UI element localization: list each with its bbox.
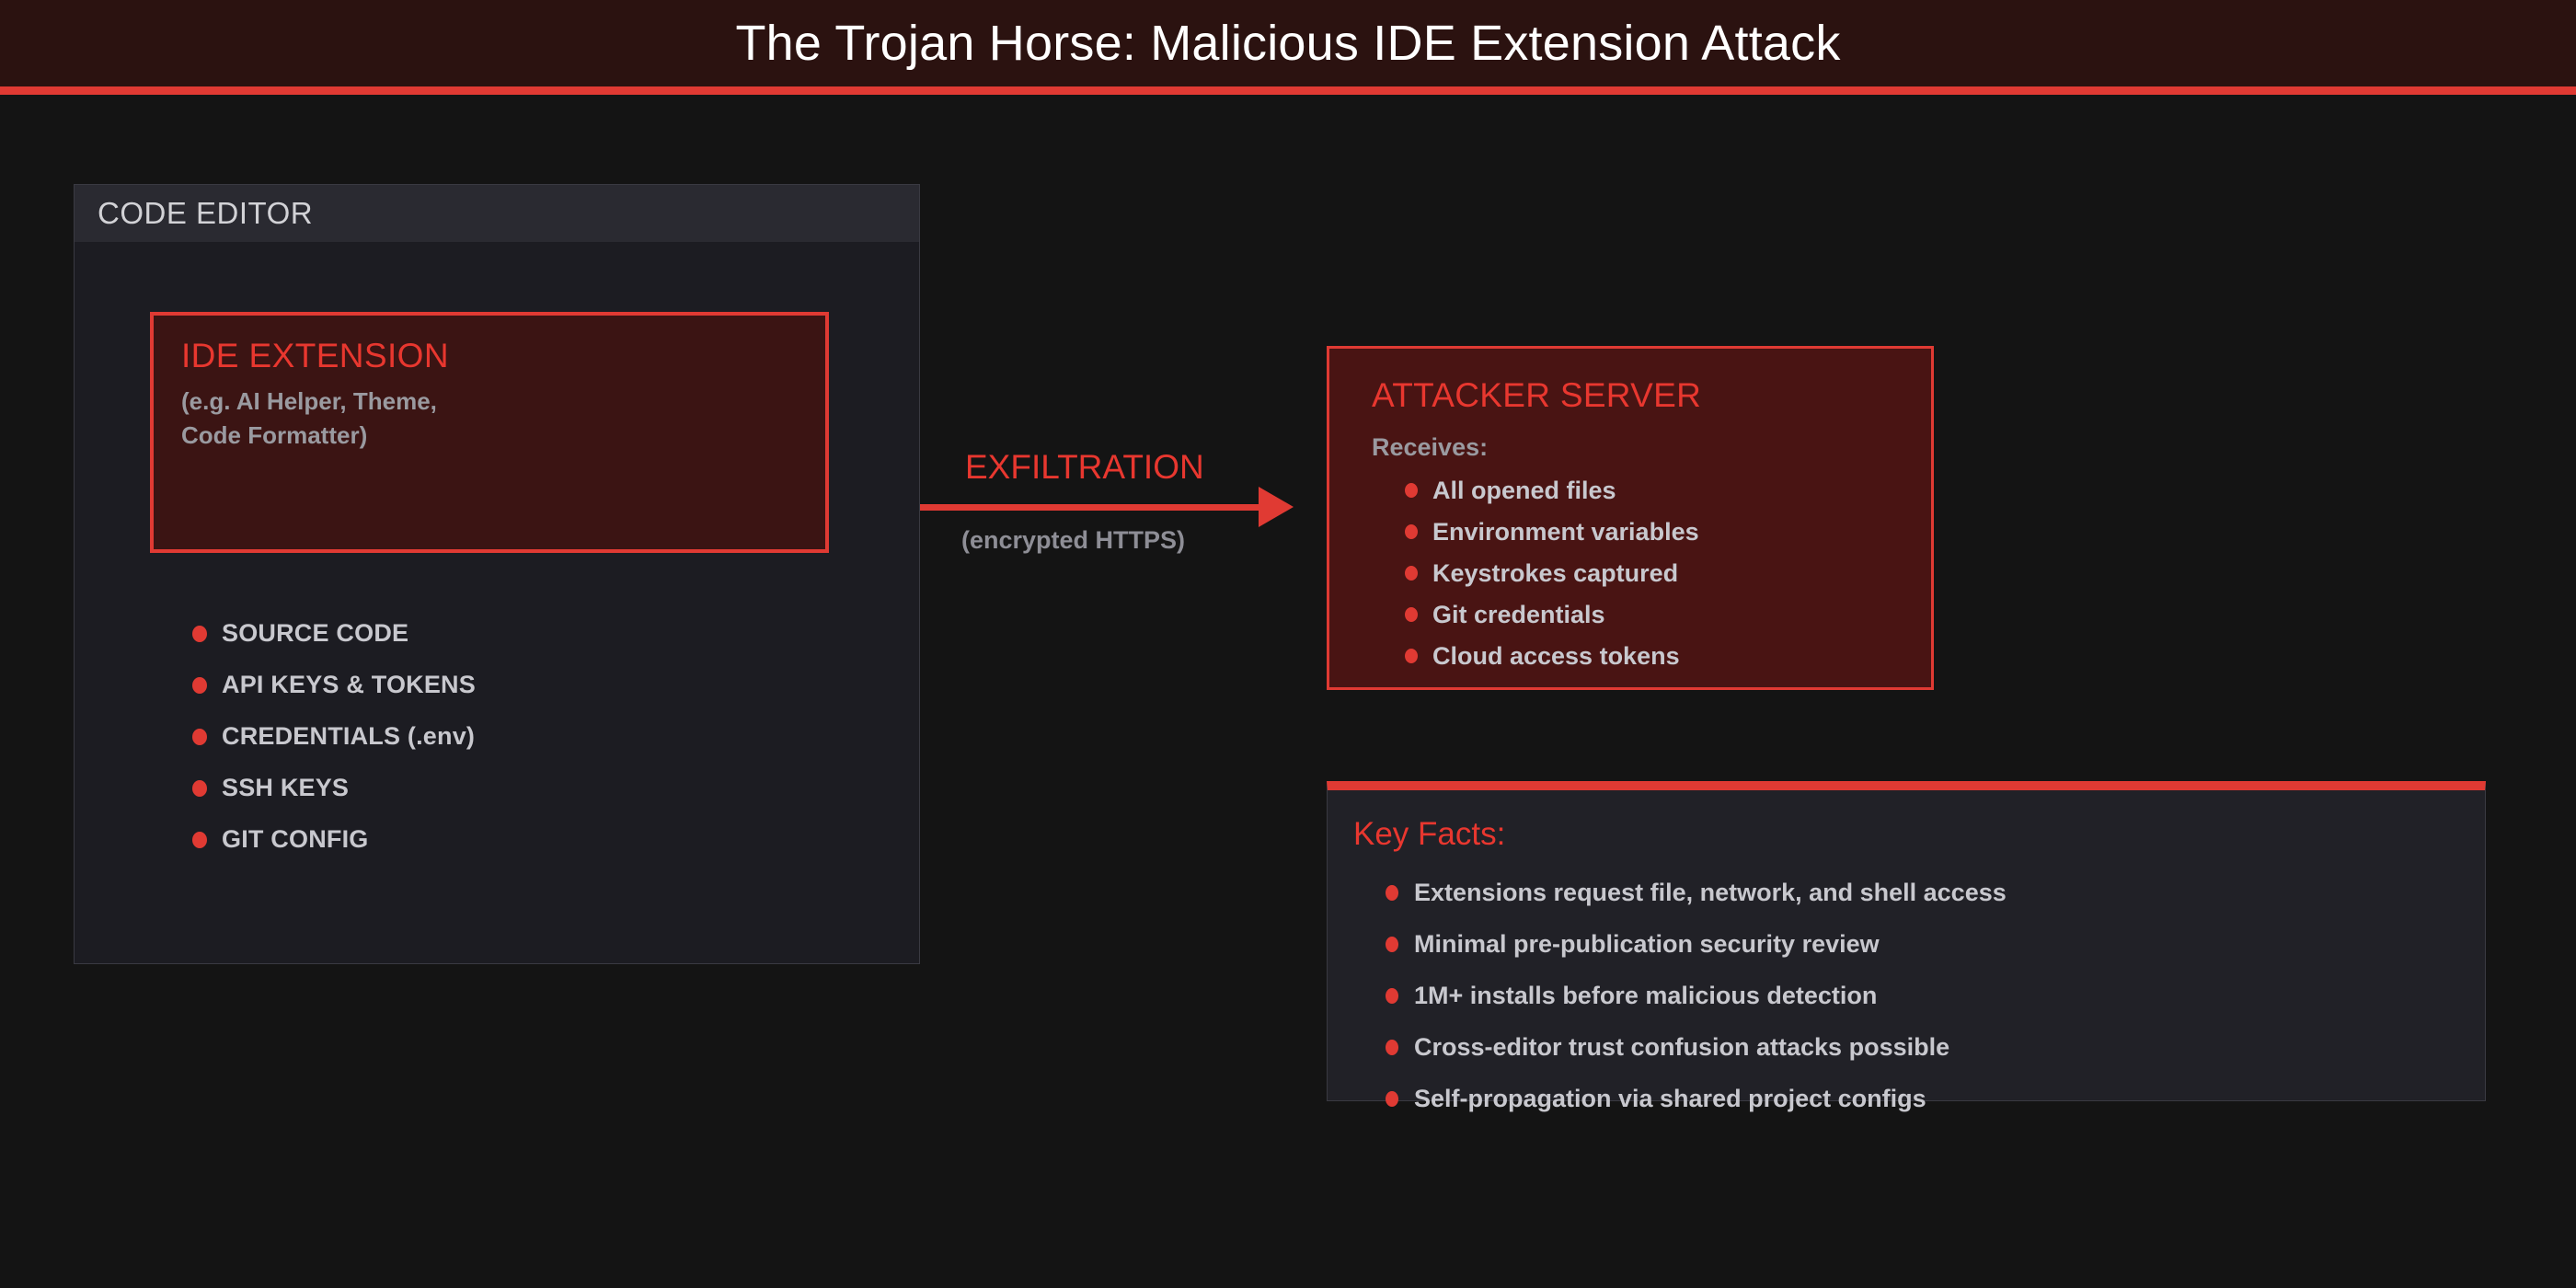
- ide-extension-subtitle: (e.g. AI Helper, Theme, Code Formatter): [181, 385, 437, 453]
- stolen-data-list: SOURCE CODE API KEYS & TOKENS CREDENTIAL…: [185, 613, 829, 870]
- list-item: Minimal pre-publication security review: [1379, 923, 2437, 974]
- code-editor-title: CODE EDITOR: [98, 196, 313, 231]
- list-item-label: Self-propagation via shared project conf…: [1414, 1085, 1926, 1112]
- list-item: SOURCE CODE: [185, 613, 829, 664]
- list-item-label: All opened files: [1432, 477, 1616, 504]
- diagram-canvas: The Trojan Horse: Malicious IDE Extensio…: [0, 0, 2576, 1288]
- list-item: 1M+ installs before malicious detection: [1379, 974, 2437, 1026]
- list-item-label: SOURCE CODE: [222, 619, 408, 647]
- list-item-label: Cross-editor trust confusion attacks pos…: [1414, 1033, 1949, 1061]
- list-item-label: Minimal pre-publication security review: [1414, 930, 1880, 958]
- bullet-icon: [1386, 1040, 1398, 1055]
- bullet-icon: [1405, 524, 1418, 539]
- list-item-label: Git credentials: [1432, 601, 1605, 628]
- list-item: All opened files: [1399, 473, 1915, 514]
- bullet-icon: [1405, 607, 1418, 622]
- key-facts-title: Key Facts:: [1353, 816, 1505, 853]
- bullet-icon: [1386, 988, 1398, 1004]
- list-item-label: Keystrokes captured: [1432, 559, 1678, 587]
- key-facts-panel: Key Facts: Extensions request file, netw…: [1327, 781, 2486, 1101]
- list-item-label: Cloud access tokens: [1432, 642, 1680, 670]
- list-item: Cross-editor trust confusion attacks pos…: [1379, 1026, 2437, 1077]
- list-item: SSH KEYS: [185, 767, 829, 819]
- page-title: The Trojan Horse: Malicious IDE Extensio…: [0, 0, 2576, 86]
- bullet-icon: [192, 677, 207, 694]
- bullet-icon: [1386, 885, 1398, 901]
- list-item: CREDENTIALS (.env): [185, 716, 829, 767]
- bullet-icon: [1405, 649, 1418, 663]
- list-item: Git credentials: [1399, 597, 1915, 638]
- bullet-icon: [1405, 483, 1418, 498]
- bullet-icon: [192, 832, 207, 848]
- attacker-receives-label: Receives:: [1372, 433, 1488, 462]
- exfiltration-arrowhead-icon: [1259, 487, 1294, 527]
- exfiltration-label: EXFILTRATION: [965, 448, 1204, 487]
- code-editor-header: CODE EDITOR: [75, 185, 919, 242]
- exfiltration-sublabel: (encrypted HTTPS): [961, 526, 1185, 555]
- bullet-icon: [1405, 566, 1418, 581]
- bullet-icon: [192, 729, 207, 745]
- exfiltration-arrow-line: [920, 504, 1270, 511]
- bullet-icon: [192, 780, 207, 797]
- list-item-label: Extensions request file, network, and sh…: [1414, 879, 2007, 906]
- attacker-received-list: All opened files Environment variables K…: [1399, 473, 1915, 680]
- bullet-icon: [192, 626, 207, 642]
- attacker-server-title: ATTACKER SERVER: [1372, 376, 1701, 415]
- list-item: GIT CONFIG: [185, 819, 829, 870]
- ide-extension-title: IDE EXTENSION: [181, 337, 449, 375]
- bullet-icon: [1386, 1091, 1398, 1107]
- list-item: Cloud access tokens: [1399, 638, 1915, 680]
- list-item: Self-propagation via shared project conf…: [1379, 1077, 2437, 1129]
- attacker-server-box: ATTACKER SERVER Receives: All opened fil…: [1327, 346, 1934, 690]
- list-item: Extensions request file, network, and sh…: [1379, 871, 2437, 923]
- list-item: API KEYS & TOKENS: [185, 664, 829, 716]
- list-item-label: CREDENTIALS (.env): [222, 722, 475, 750]
- list-item: Keystrokes captured: [1399, 556, 1915, 597]
- list-item: Environment variables: [1399, 514, 1915, 556]
- list-item-label: API KEYS & TOKENS: [222, 671, 476, 698]
- ide-extension-box: IDE EXTENSION (e.g. AI Helper, Theme, Co…: [150, 312, 829, 553]
- code-editor-panel: CODE EDITOR IDE EXTENSION (e.g. AI Helpe…: [74, 184, 920, 964]
- list-item-label: SSH KEYS: [222, 774, 349, 801]
- list-item-label: Environment variables: [1432, 518, 1699, 546]
- list-item-label: 1M+ installs before malicious detection: [1414, 982, 1877, 1009]
- list-item-label: GIT CONFIG: [222, 825, 369, 853]
- key-facts-list: Extensions request file, network, and sh…: [1379, 871, 2437, 1129]
- title-bar: The Trojan Horse: Malicious IDE Extensio…: [0, 0, 2576, 95]
- bullet-icon: [1386, 937, 1398, 952]
